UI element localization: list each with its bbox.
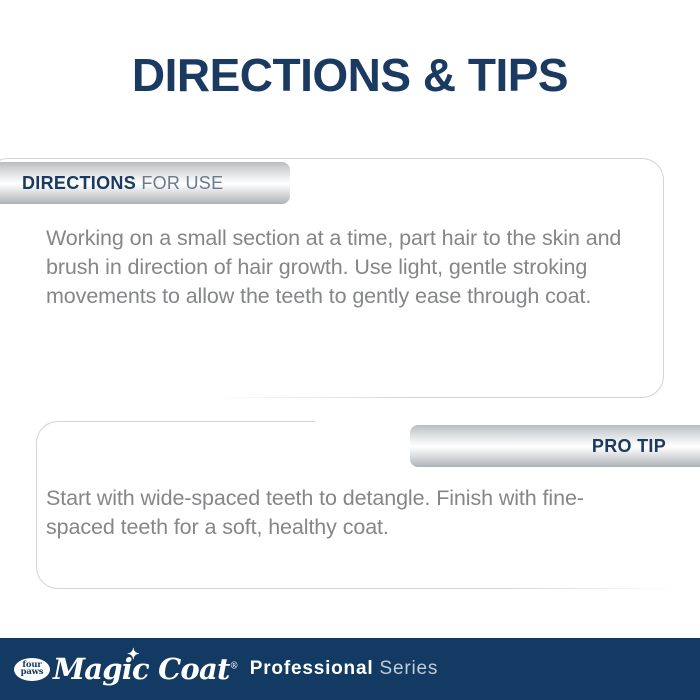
protip-header-label: PRO TIP (592, 436, 666, 457)
directions-header-strong: DIRECTIONS (22, 173, 136, 193)
protip-body-text: Start with wide-spaced teeth to detangle… (46, 484, 626, 542)
directions-header-bar: DIRECTIONS FOR USE (0, 162, 290, 204)
star-icon: ✦ (127, 645, 139, 663)
protip-header-strong: PRO TIP (592, 436, 666, 456)
footer-tagline-light: Series (373, 658, 438, 679)
page-title: DIRECTIONS & TIPS (0, 52, 700, 98)
magic-coat-wordmark: ✦Magic Coat® (53, 652, 238, 686)
registered-mark: ® (230, 661, 238, 671)
footer-tagline-strong: Professional (250, 658, 374, 679)
directions-header-light: FOR USE (136, 173, 223, 193)
directions-header-label: DIRECTIONS FOR USE (22, 173, 223, 194)
four-paws-line-2: paws (21, 669, 44, 676)
footer-brand-bar: four paws ✦Magic Coat® Professional Seri… (0, 638, 700, 700)
four-paws-logo-icon: four paws (14, 658, 50, 681)
directions-body-text: Working on a small section at a time, pa… (46, 224, 646, 311)
protip-header-bar: PRO TIP (410, 425, 700, 467)
magic-coat-text: Magic Coat (53, 652, 230, 686)
footer-tagline: Professional Series (250, 658, 438, 680)
